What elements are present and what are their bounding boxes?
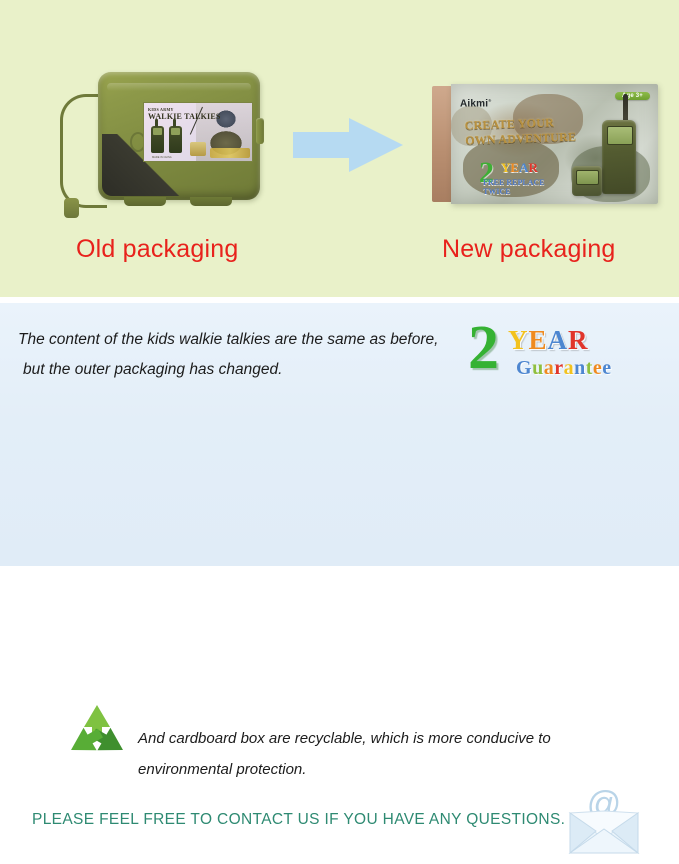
recyclable-line2: environmental protection. <box>138 761 306 778</box>
new-packaging-image: Aikmi® Age 3+ CREATE YOUR OWN ADVENTURE … <box>432 84 658 204</box>
age-badge: Age 3+ <box>615 92 650 100</box>
guarantee-number: 2 <box>468 317 499 379</box>
arrow-shaft <box>293 132 355 158</box>
box-tagline: CREATE YOUR OWN ADVENTURE <box>465 114 606 149</box>
old-packaging-image: KIDS ARMY WALKIE TALKIES MADE IN CHINA <box>60 72 260 212</box>
walkie-talkie-small <box>572 166 602 196</box>
recyclable-line1: And cardboard box are recyclable, which … <box>138 730 551 747</box>
guarantee-year-text: YEAR <box>508 325 589 356</box>
new-packaging-caption: New packaging <box>442 235 616 264</box>
brand-logo: Aikmi® <box>460 98 491 109</box>
walkie-talkie-large <box>602 120 636 194</box>
lanyard-tip <box>64 198 79 218</box>
box-front-face: Aikmi® Age 3+ CREATE YOUR OWN ADVENTURE … <box>451 84 658 204</box>
old-packaging-caption: Old packaging <box>76 235 238 264</box>
badge-year-text: YEAR <box>501 160 538 176</box>
label-gold-band <box>210 148 250 158</box>
trademark-symbol: ® <box>488 98 491 103</box>
case-foot <box>190 197 232 206</box>
label-walkie-talkie <box>151 126 164 153</box>
product-packaging-notice: KIDS ARMY WALKIE TALKIES MADE IN CHINA <box>0 0 679 566</box>
tagline-line2: OWN ADVENTURE <box>465 130 576 148</box>
arrow-head <box>349 118 403 172</box>
box-guarantee-badge: 2 YEAR FREE REPLACE TWICE <box>479 158 571 196</box>
packaging-change-line2: but the outer packaging has changed. <box>18 355 458 385</box>
recyclable-text: And cardboard box are recyclable, which … <box>138 723 608 785</box>
information-panel: The content of the kids walkie talkies a… <box>0 303 679 566</box>
email-envelope-icon: @ <box>556 785 652 859</box>
two-year-guarantee-logo: 2 YEAR Guarantee <box>468 321 664 387</box>
right-arrow-icon <box>293 118 403 172</box>
case-product-label: KIDS ARMY WALKIE TALKIES MADE IN CHINA <box>143 102 253 162</box>
packaging-change-line1: The content of the kids walkie talkies a… <box>18 331 438 348</box>
case-latch <box>256 118 264 144</box>
brand-name: Aikmi <box>460 98 488 109</box>
label-made-in: MADE IN CHINA <box>152 156 172 159</box>
label-walkie-talkie <box>169 126 182 153</box>
recycle-icon <box>58 701 136 773</box>
contact-message: PLEASE FEEL FREE TO CONTACT US IF YOU HA… <box>32 811 565 829</box>
label-title-line2: WALKIE TALKIES <box>148 113 221 121</box>
label-accessory <box>190 142 206 156</box>
plastic-case-body: KIDS ARMY WALKIE TALKIES MADE IN CHINA <box>98 72 260 200</box>
case-foot <box>124 197 166 206</box>
guarantee-word-text: Guarantee <box>516 357 612 380</box>
badge-subtitle: FREE REPLACE TWICE <box>483 178 571 196</box>
label-title: KIDS ARMY WALKIE TALKIES <box>148 108 221 121</box>
comparison-panel: KIDS ARMY WALKIE TALKIES MADE IN CHINA <box>0 0 679 300</box>
packaging-change-text: The content of the kids walkie talkies a… <box>18 325 458 385</box>
